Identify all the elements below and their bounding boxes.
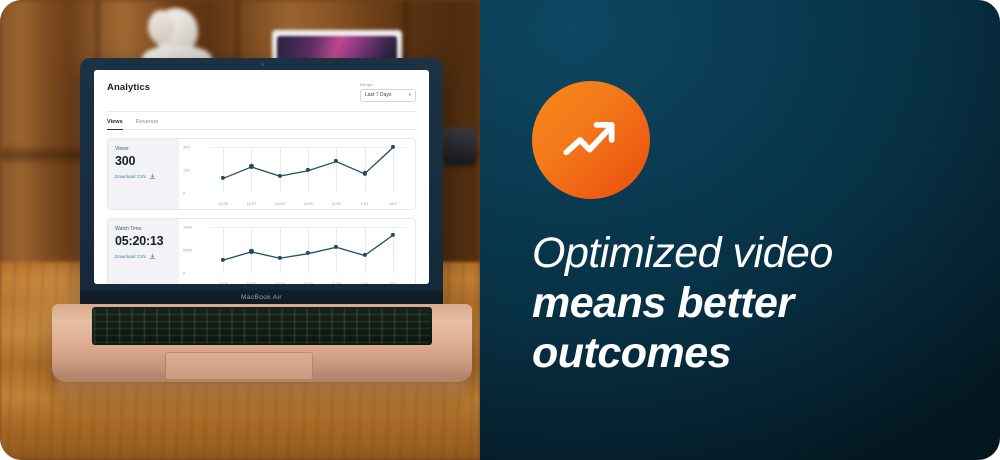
x-axis-tick-label: 12/2	[389, 281, 397, 285]
metric-summary: Views: 300 Download CSV ⋮⋮	[108, 139, 179, 209]
metric-summary: Watch Time: 05:20:13 Download CSV ⋮⋮	[108, 219, 179, 285]
metric-card-watch-time: Watch Time: 05:20:13 Download CSV ⋮⋮	[107, 218, 416, 285]
x-axis-tick-label: 11/29	[303, 201, 313, 206]
x-axis-tick-label: 11/28	[275, 201, 285, 206]
x-axis-tick-label: 11/26	[218, 281, 228, 285]
page-title: Analytics	[107, 82, 150, 93]
trending-up-arrow-icon	[558, 107, 624, 173]
x-axis-tick-label: 11/26	[218, 201, 228, 206]
header-divider	[107, 111, 416, 112]
x-axis-tick-label: 11/28	[275, 281, 285, 285]
metric-label: Watch Time:	[115, 226, 172, 232]
headline-line-3: outcomes	[532, 329, 1000, 379]
chevron-down-icon: ▾	[409, 92, 411, 98]
x-axis-tick-label: 11/30	[331, 281, 341, 285]
download-csv-label: Download CSV	[115, 254, 146, 259]
x-axis-tick-label: 12/2	[389, 201, 397, 206]
laptop-keyboard	[92, 307, 432, 345]
range-filter: Range Last 7 Days ▾	[360, 82, 416, 102]
views-plot-area: 015030011/2611/2711/2811/2911/3012/112/2	[209, 147, 407, 193]
desk-cup	[443, 128, 476, 166]
drag-handle-icon[interactable]: ⋮⋮	[115, 198, 126, 204]
line-series	[209, 227, 407, 273]
x-axis-tick-label: 12/1	[361, 281, 369, 285]
metric-label: Views:	[115, 146, 172, 152]
laptop-lid: Analytics Range Last 7 Days ▾ Views Rev	[80, 58, 443, 296]
laptop-screen: Analytics Range Last 7 Days ▾ Views Rev	[94, 70, 429, 284]
x-axis-tick-label: 11/27	[247, 201, 257, 206]
y-axis-tick-label: 300	[183, 144, 190, 149]
download-csv-label: Download CSV	[115, 174, 146, 179]
download-csv-link[interactable]: Download CSV	[115, 173, 172, 180]
metric-card-views: Views: 300 Download CSV ⋮⋮ 015030	[107, 138, 416, 210]
y-axis-tick-label: 0	[183, 270, 185, 275]
range-select-value: Last 7 Days	[365, 92, 391, 98]
webcam-icon	[261, 63, 264, 66]
brand-logo	[532, 81, 650, 199]
headline-line-1: Optimized video	[532, 229, 1000, 279]
headline: Optimized video means better outcomes	[532, 229, 1000, 379]
laptop-trackpad	[165, 352, 313, 380]
analytics-dashboard: Analytics Range Last 7 Days ▾ Views Rev	[94, 70, 429, 284]
y-axis-tick-label: 0	[183, 190, 185, 195]
metric-value: 300	[115, 154, 172, 168]
views-chart: 015030011/2611/2711/2811/2911/3012/112/2	[179, 139, 415, 209]
watch-time-plot-area: 00500100011/2611/2711/2811/2911/3012/112…	[209, 227, 407, 273]
download-icon	[149, 173, 156, 180]
device-label: MacBook Air	[80, 294, 443, 301]
download-csv-link[interactable]: Download CSV	[115, 253, 172, 260]
metric-value: 05:20:13	[115, 234, 172, 248]
tab-views[interactable]: Views	[107, 119, 123, 130]
x-axis-tick-label: 12/1	[361, 201, 369, 206]
laptop-photo: Analytics Range Last 7 Days ▾ Views Rev	[0, 0, 480, 460]
range-label: Range	[360, 82, 416, 87]
drag-handle-icon[interactable]: ⋮⋮	[115, 278, 126, 284]
y-axis-tick-label: 150	[183, 167, 190, 172]
x-axis-tick-label: 11/27	[247, 281, 257, 285]
range-select[interactable]: Last 7 Days ▾	[360, 89, 416, 102]
x-axis-tick-label: 11/29	[303, 281, 313, 285]
y-axis-tick-label: 1000	[183, 224, 192, 229]
promo-banner: Analytics Range Last 7 Days ▾ Views Rev	[0, 0, 1000, 460]
x-axis-tick-label: 11/30	[331, 201, 341, 206]
tab-revenue[interactable]: Revenue	[136, 119, 158, 130]
message-panel: Optimized video means better outcomes	[480, 0, 1000, 460]
download-icon	[149, 253, 156, 260]
dashboard-header: Analytics Range Last 7 Days ▾	[107, 82, 416, 102]
watch-time-chart: 00500100011/2611/2711/2811/2911/3012/112…	[179, 219, 415, 285]
y-axis-tick-label: 0500	[183, 247, 192, 252]
desk-reflection	[58, 380, 466, 404]
headline-line-2: means better	[532, 279, 1000, 329]
